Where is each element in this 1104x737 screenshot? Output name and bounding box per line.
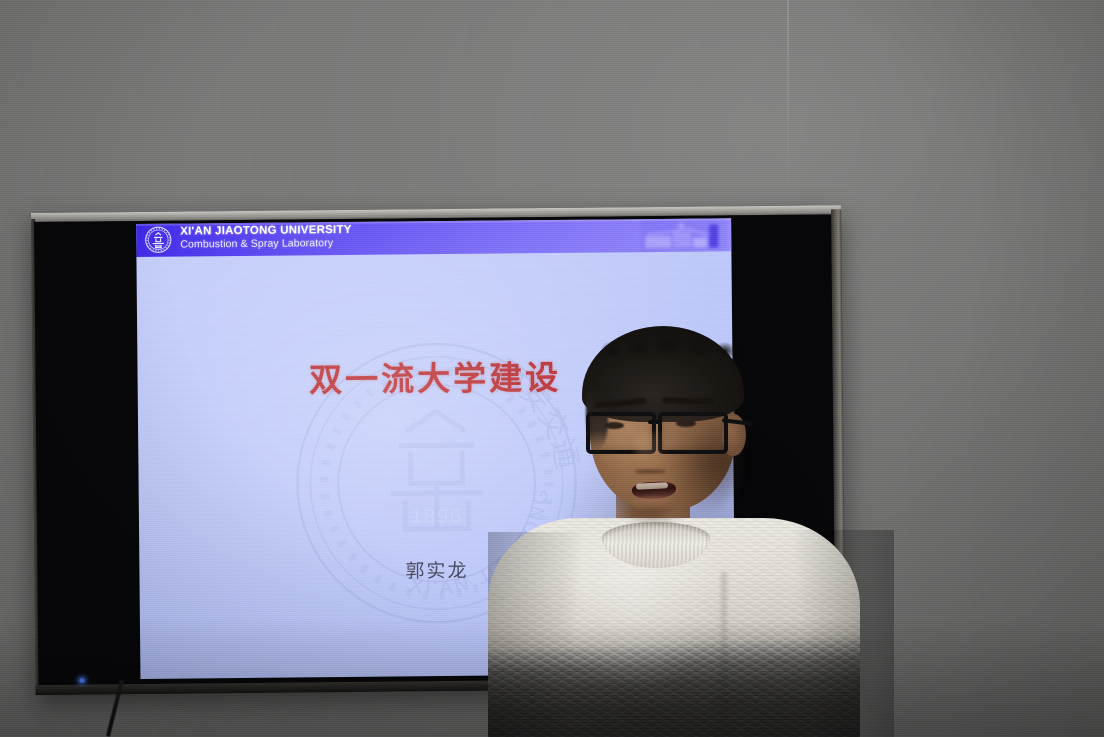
lens-right [658, 412, 728, 454]
chin-shadow [622, 508, 684, 526]
svg-text:1896: 1896 [410, 506, 462, 528]
campus-building-photo [641, 219, 727, 251]
xjtu-seal-logo-icon [144, 226, 172, 254]
glasses-bridge [648, 420, 662, 424]
banner-text-block: XI'AN JIAOTONG UNIVERSITY Combustion & S… [180, 224, 352, 252]
hair-spikes [582, 322, 748, 356]
nostrils [635, 468, 665, 475]
slide-header-banner: XI'AN JIAOTONG UNIVERSITY Combustion & S… [136, 218, 731, 257]
banner-lab-name: Combustion & Spray Laboratory [180, 237, 352, 252]
floor-shadow [0, 617, 1104, 737]
scene-photo: 西安交通大学 XI'AN JIAOTONG UNIVERSITY [0, 0, 1104, 737]
lower-lip [630, 497, 678, 506]
wall-panel-seam [787, 0, 789, 196]
